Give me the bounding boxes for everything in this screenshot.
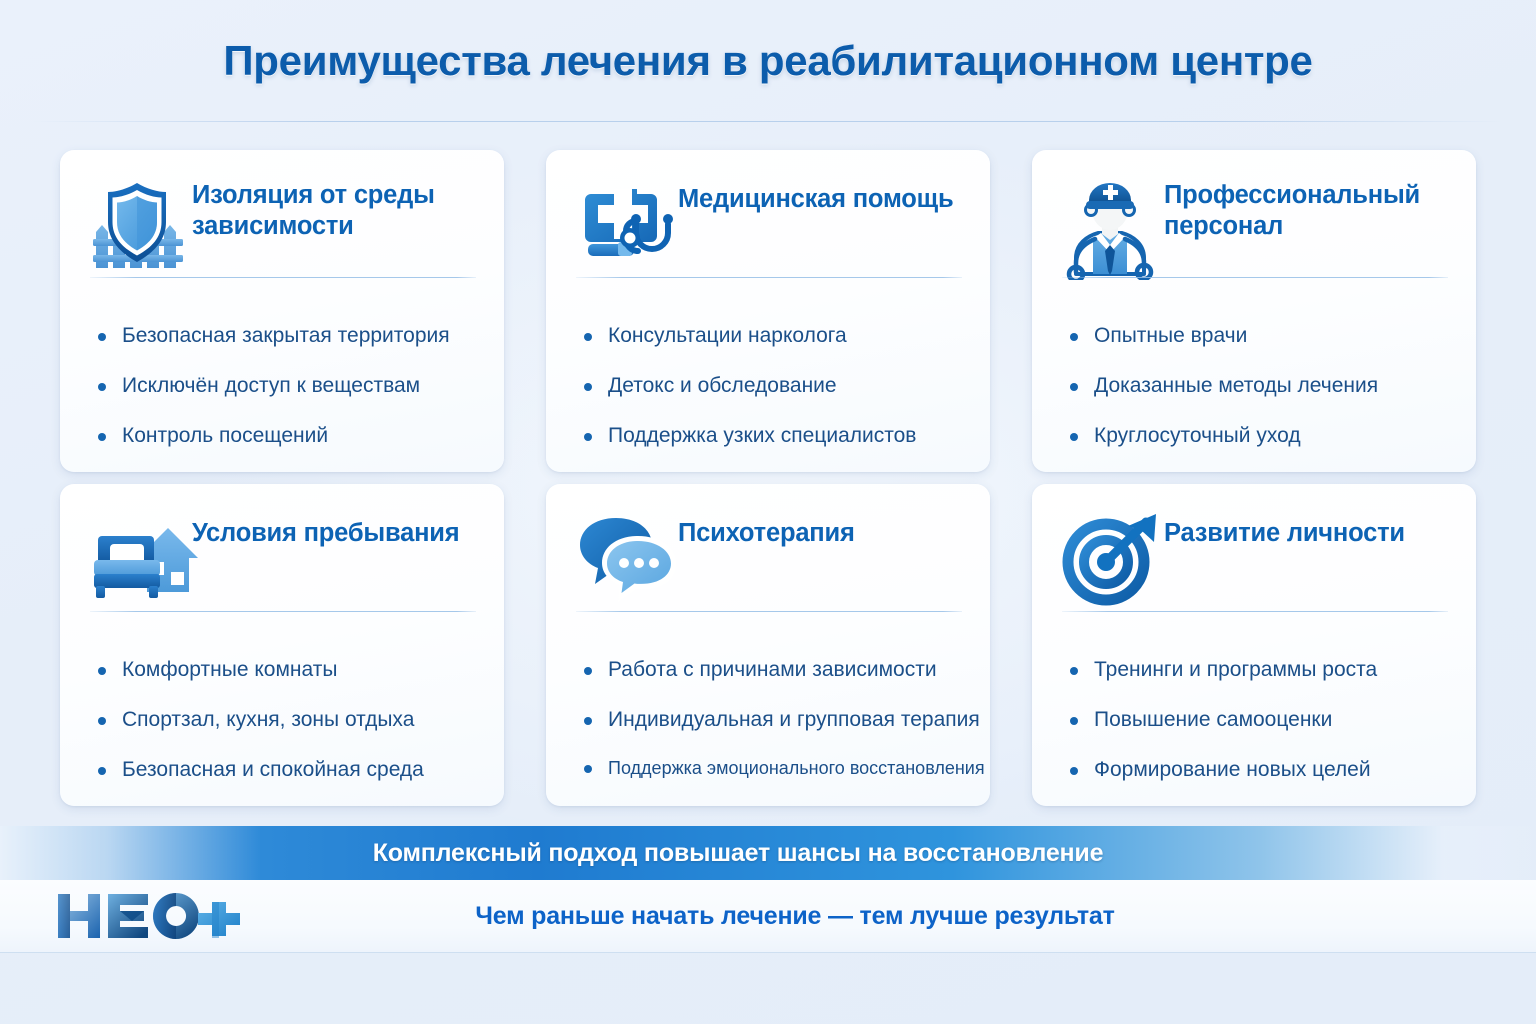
- card-header: Психотерапия: [576, 510, 962, 618]
- card-bullet-list: Комфортные комнаты Спортзал, кухня, зоны…: [90, 618, 476, 782]
- card-header: Медицинская помощь: [576, 176, 962, 284]
- list-item: Контроль посещений: [96, 424, 476, 448]
- card-divider: [576, 611, 962, 612]
- card-divider: [90, 611, 476, 612]
- card-bullet-list: Опытные врачи Доказанные методы лечения …: [1062, 284, 1448, 448]
- list-item: Исключён доступ к веществам: [96, 374, 476, 398]
- card-bullet-list: Работа с причинами зависимости Индивидуа…: [576, 618, 962, 779]
- card-divider: [1062, 277, 1448, 278]
- list-item: Поддержка узких специалистов: [582, 424, 962, 448]
- footer-tagline: Чем раньше начать лечение — тем лучше ре…: [284, 902, 1536, 931]
- card-title: Изоляция от среды зависимости: [192, 176, 476, 242]
- card-title: Условия пребывания: [192, 510, 476, 549]
- card-header: Условия пребывания: [90, 510, 476, 618]
- card-divider: [90, 277, 476, 278]
- list-item: Детокс и обследование: [582, 374, 962, 398]
- list-item: Опытные врачи: [1068, 324, 1448, 348]
- list-item: Консультации нарколога: [582, 324, 962, 348]
- medical-kit-stethoscope-icon: [576, 176, 672, 280]
- banner-text: Комплексный подход повышает шансы на вос…: [373, 839, 1104, 868]
- benefit-card-accommodation[interactable]: Условия пребывания Комфортные комнаты Сп…: [60, 484, 504, 806]
- card-bullet-list: Безопасная закрытая территория Исключён …: [90, 284, 476, 448]
- card-title: Развитие личности: [1164, 510, 1448, 549]
- card-title: Медицинская помощь: [678, 176, 962, 215]
- speech-bubbles-icon: [576, 510, 672, 614]
- doctor-icon: [1062, 176, 1158, 280]
- list-item: Индивидуальная и групповая терапия: [582, 708, 962, 732]
- card-title: Психотерапия: [678, 510, 962, 549]
- card-divider: [1062, 611, 1448, 612]
- list-item: Безопасная и спокойная среда: [96, 758, 476, 782]
- brand-logo[interactable]: [54, 888, 284, 944]
- list-item: Комфортные комнаты: [96, 658, 476, 682]
- list-item: Формирование новых целей: [1068, 758, 1448, 782]
- poster-header: Преимущества лечения в реабилитационном …: [0, 0, 1536, 122]
- summary-banner: Комплексный подход повышает шансы на вос…: [0, 826, 1536, 880]
- list-item: Тренинги и программы роста: [1068, 658, 1448, 682]
- list-item: Поддержка эмоционального восстановления: [582, 758, 962, 779]
- benefit-card-personal-growth[interactable]: Развитие личности Тренинги и программы р…: [1032, 484, 1476, 806]
- card-header: Развитие личности: [1062, 510, 1448, 618]
- benefits-grid: Изоляция от среды зависимости Безопасная…: [60, 150, 1476, 806]
- card-bullet-list: Тренинги и программы роста Повышение сам…: [1062, 618, 1448, 782]
- shield-fence-icon: [90, 176, 186, 280]
- poster-footer: Чем раньше начать лечение — тем лучше ре…: [0, 880, 1536, 953]
- card-header: Изоляция от среды зависимости: [90, 176, 476, 284]
- list-item: Безопасная закрытая территория: [96, 324, 476, 348]
- benefit-card-isolation[interactable]: Изоляция от среды зависимости Безопасная…: [60, 150, 504, 472]
- benefit-card-psychotherapy[interactable]: Психотерапия Работа с причинами зависимо…: [546, 484, 990, 806]
- infographic-poster: Преимущества лечения в реабилитационном …: [0, 0, 1536, 1024]
- list-item: Работа с причинами зависимости: [582, 658, 962, 682]
- list-item: Спортзал, кухня, зоны отдыха: [96, 708, 476, 732]
- card-title: Профессиональный персонал: [1164, 176, 1448, 242]
- benefit-card-medical-help[interactable]: Медицинская помощь Консультации нарколог…: [546, 150, 990, 472]
- list-item: Круглосуточный уход: [1068, 424, 1448, 448]
- page-title: Преимущества лечения в реабилитационном …: [223, 37, 1312, 85]
- card-header: Профессиональный персонал: [1062, 176, 1448, 284]
- bed-house-icon: [90, 510, 186, 614]
- list-item: Повышение самооценки: [1068, 708, 1448, 732]
- card-divider: [576, 277, 962, 278]
- list-item: Доказанные методы лечения: [1068, 374, 1448, 398]
- card-bullet-list: Консультации нарколога Детокс и обследов…: [576, 284, 962, 448]
- target-arrow-icon: [1062, 510, 1158, 614]
- benefit-card-professional-staff[interactable]: Профессиональный персонал Опытные врачи …: [1032, 150, 1476, 472]
